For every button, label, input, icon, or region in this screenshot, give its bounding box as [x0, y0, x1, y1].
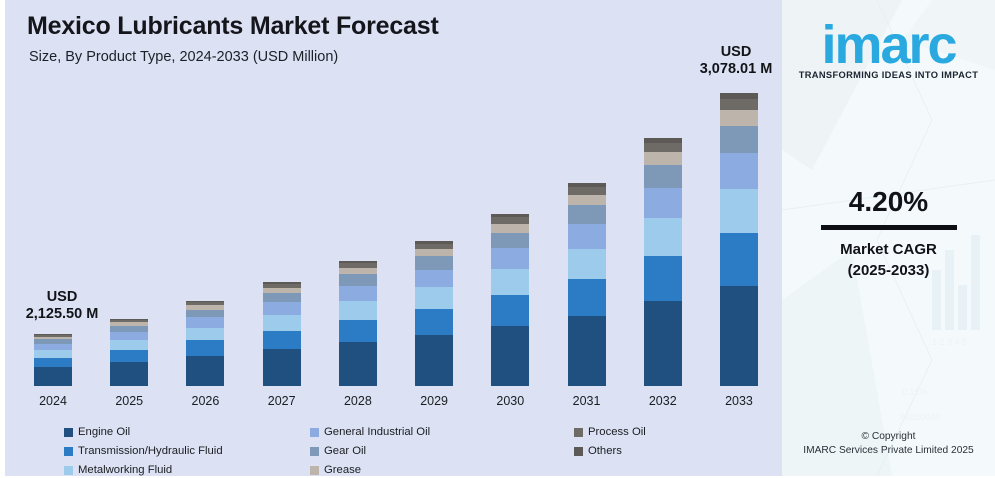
bar-segment	[34, 358, 72, 367]
bar-segment	[263, 293, 301, 302]
bar-segment	[491, 224, 529, 233]
x-tick-2032: 2032	[644, 388, 682, 412]
page-title: Mexico Lubricants Market Forecast	[27, 12, 439, 41]
bar-segment	[110, 340, 148, 350]
legend-item[interactable]: Process Oil	[574, 424, 764, 440]
legend-label: Engine Oil	[78, 426, 130, 438]
bar-segment	[568, 224, 606, 249]
logo-tagline: TRANSFORMING IDEAS INTO IMPACT	[782, 70, 995, 80]
copyright-line-2: IMARC Services Private Limited 2025	[782, 444, 995, 458]
bar-segment	[491, 295, 529, 326]
cagr-block: 4.20% Market CAGR (2025-2033)	[782, 186, 995, 281]
bar-segment	[186, 340, 224, 355]
copyright-line-1: © Copyright	[782, 430, 995, 444]
bar-segment	[568, 205, 606, 224]
bar-segment	[110, 362, 148, 386]
bar-column-2025	[110, 319, 148, 386]
legend-label: Process Oil	[588, 426, 646, 438]
legend-item[interactable]: Transmission/Hydraulic Fluid	[64, 443, 310, 459]
bar-segment	[263, 331, 301, 350]
bar-segment	[186, 317, 224, 327]
bar-segment	[415, 270, 453, 288]
svg-text:1 2 3 4 5: 1 2 3 4 5	[932, 337, 967, 347]
bar-segment	[644, 218, 682, 256]
bar-segment	[34, 350, 72, 358]
page-subtitle: Size, By Product Type, 2024-2033 (USD Mi…	[29, 49, 338, 65]
bar-segment	[720, 153, 758, 189]
bar-column-2033	[720, 93, 758, 386]
bar-column-2028	[339, 261, 377, 386]
legend-label: Metalworking Fluid	[78, 464, 172, 476]
legend-swatch-icon	[310, 466, 319, 475]
bar-segment	[110, 350, 148, 362]
bar-segment	[415, 309, 453, 335]
bar-segment	[644, 165, 682, 188]
bar-segment	[491, 269, 529, 295]
chart-panel: Mexico Lubricants Market Forecast Size, …	[0, 0, 782, 476]
bar-segment	[415, 335, 453, 386]
bar-column-2026	[186, 301, 224, 386]
bar-segment	[644, 256, 682, 301]
bar-segment	[491, 326, 529, 386]
bar-column-2029	[415, 241, 453, 386]
bar-segment	[491, 248, 529, 269]
cagr-value: 4.20%	[782, 186, 995, 218]
bar-segment	[568, 279, 606, 316]
x-tick-2030: 2030	[491, 388, 529, 412]
bar-segment	[186, 310, 224, 318]
legend-label: Grease	[324, 464, 361, 476]
end-value-currency: USD	[684, 44, 788, 61]
bar-segment	[415, 256, 453, 269]
bar-segment	[186, 328, 224, 341]
logo-wordmark: imarc	[782, 16, 995, 74]
x-tick-2031: 2031	[568, 388, 606, 412]
bar-segment	[110, 332, 148, 340]
bar-segment	[644, 143, 682, 152]
x-tick-2024: 2024	[34, 388, 72, 412]
bar-column-2030	[491, 214, 529, 386]
bar-segment	[568, 187, 606, 194]
bar-segment	[263, 302, 301, 315]
end-value-amount: 3,078.01 M	[684, 61, 788, 78]
bar-column-2031	[568, 183, 606, 386]
legend-swatch-icon	[64, 428, 73, 437]
x-tick-2027: 2027	[263, 388, 301, 412]
bar-segment	[720, 99, 758, 110]
brand-panel: 1 2 3 4 5 0.15% 88820048 imarc TRANSFORM…	[782, 0, 995, 476]
bar-segment	[339, 301, 377, 320]
legend-swatch-icon	[310, 447, 319, 456]
legend-label: Others	[588, 445, 622, 457]
bar-segment	[339, 342, 377, 386]
bar-segment	[568, 249, 606, 280]
svg-text:0.15%: 0.15%	[902, 387, 928, 397]
bar-segment	[339, 274, 377, 285]
legend-item[interactable]: Gear Oil	[310, 443, 574, 459]
end-value-callout: USD 3,078.01 M	[684, 44, 788, 78]
bar-segment	[568, 195, 606, 206]
bar-segment	[415, 249, 453, 256]
stacked-bar-group	[22, 86, 770, 386]
bar-segment	[491, 233, 529, 249]
panel-left-edge	[0, 0, 5, 476]
cagr-period: (2025-2033)	[782, 260, 995, 281]
bar-segment	[720, 126, 758, 153]
chart-legend: Engine OilGeneral Industrial OilProcess …	[64, 424, 764, 472]
legend-item[interactable]: General Industrial Oil	[310, 424, 574, 440]
x-tick-2028: 2028	[339, 388, 377, 412]
chart-screenshot: Mexico Lubricants Market Forecast Size, …	[0, 0, 995, 476]
bar-segment	[186, 356, 224, 386]
imarc-logo: imarc TRANSFORMING IDEAS INTO IMPACT	[782, 16, 995, 80]
bar-column-2024	[34, 334, 72, 386]
cagr-label: Market CAGR	[782, 239, 995, 260]
bar-segment	[263, 315, 301, 331]
legend-swatch-icon	[64, 447, 73, 456]
bar-segment	[644, 188, 682, 218]
bar-segment	[415, 287, 453, 309]
legend-item[interactable]: Engine Oil	[64, 424, 310, 440]
legend-label: Transmission/Hydraulic Fluid	[78, 445, 223, 457]
bar-segment	[720, 286, 758, 386]
x-tick-2025: 2025	[110, 388, 148, 412]
bar-segment	[720, 110, 758, 125]
bar-segment	[720, 233, 758, 286]
bar-segment	[339, 286, 377, 301]
legend-swatch-icon	[310, 428, 319, 437]
x-tick-2026: 2026	[186, 388, 224, 412]
svg-text:88820048: 88820048	[900, 412, 940, 422]
plot-area	[22, 86, 770, 386]
bar-segment	[34, 367, 72, 386]
copyright-notice: © Copyright IMARC Services Private Limit…	[782, 430, 995, 458]
legend-swatch-icon	[574, 447, 583, 456]
x-tick-2033: 2033	[720, 388, 758, 412]
x-tick-2029: 2029	[415, 388, 453, 412]
bar-segment	[720, 189, 758, 234]
bar-segment	[644, 152, 682, 165]
legend-label: Gear Oil	[324, 445, 366, 457]
bar-segment	[339, 320, 377, 343]
x-axis-tick-labels: 2024202520262027202820292030203120322033	[22, 388, 770, 412]
bar-column-2032	[644, 138, 682, 386]
bar-segment	[263, 349, 301, 386]
cagr-divider	[821, 225, 957, 230]
legend-swatch-icon	[64, 466, 73, 475]
legend-item[interactable]: Others	[574, 443, 764, 459]
legend-label: General Industrial Oil	[324, 426, 430, 438]
legend-swatch-icon	[574, 428, 583, 437]
bar-column-2027	[263, 282, 301, 386]
bar-segment	[644, 301, 682, 386]
bar-segment	[568, 316, 606, 386]
